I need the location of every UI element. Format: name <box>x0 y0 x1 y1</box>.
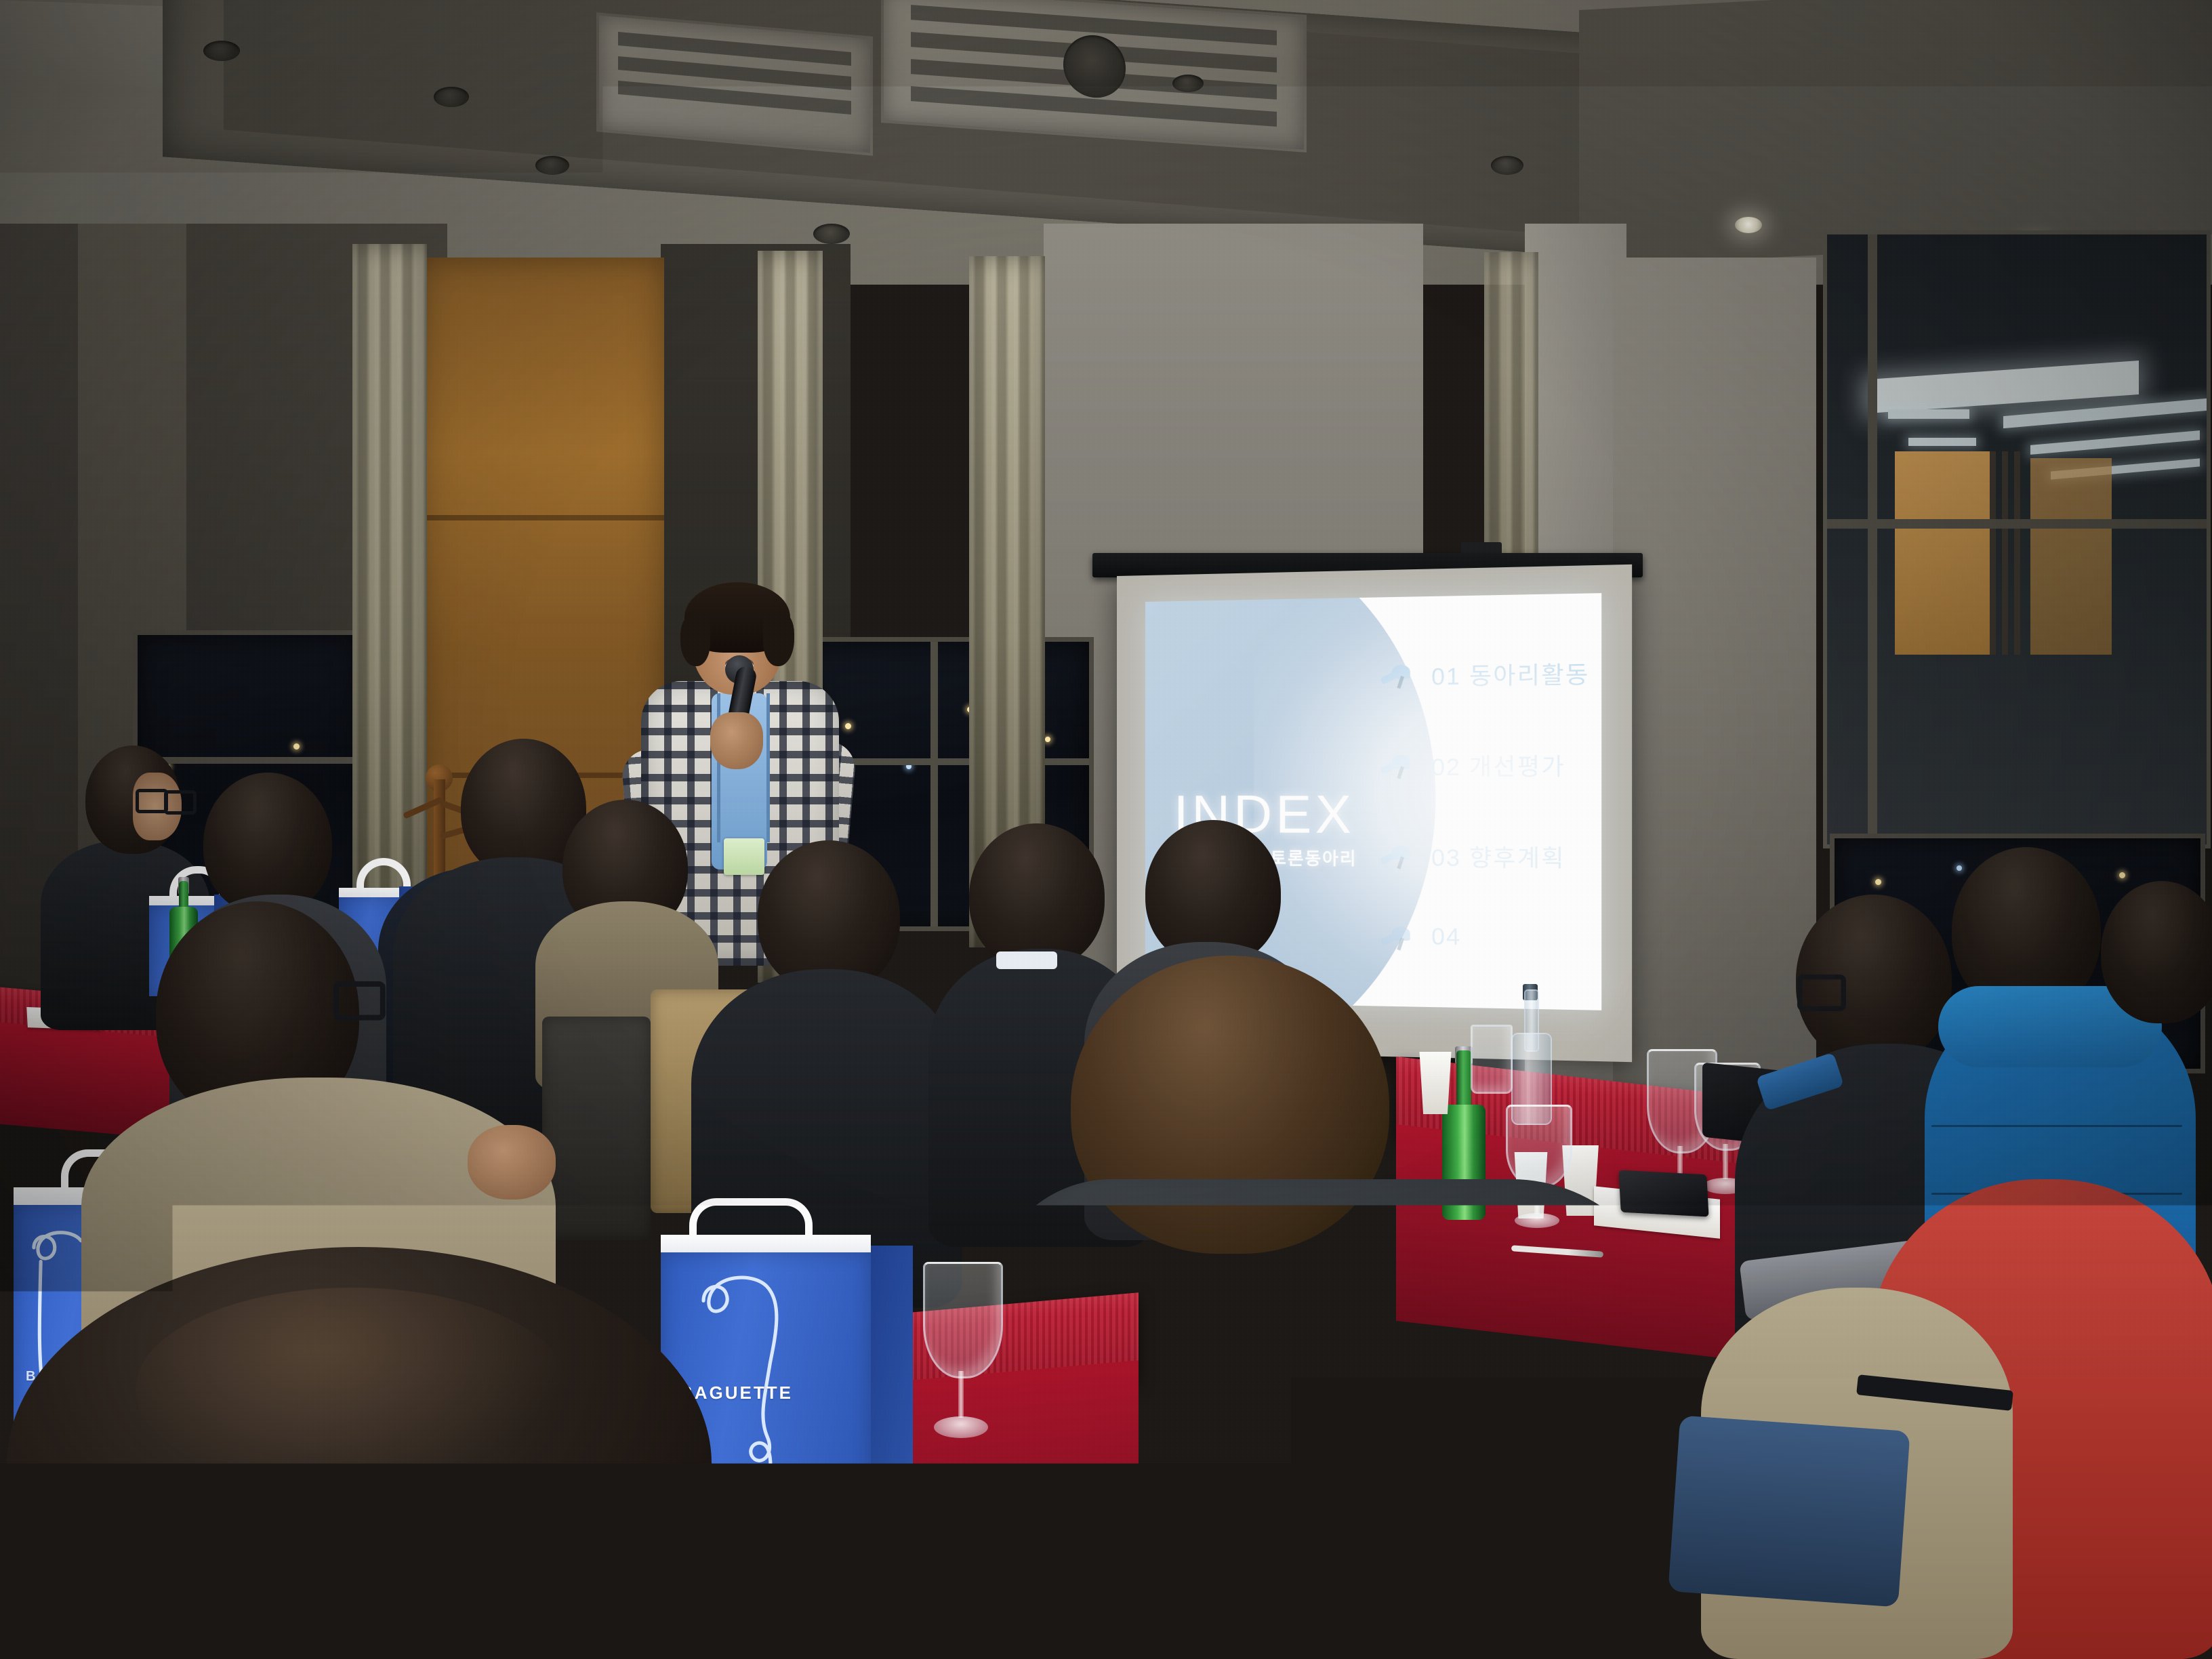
bag-orange-tag <box>838 1471 857 1492</box>
presenter-hand <box>710 712 763 769</box>
bag-swirl-decoration <box>691 1259 833 1551</box>
drinking-glass <box>1471 1025 1513 1094</box>
ceiling-downlight-icon <box>203 41 240 61</box>
slide-index-item: 03 향후계획 <box>1379 838 1565 874</box>
photo-scene: INDEX 99분 토론동아리 01 동아리활동 02 개선평가 <box>0 0 2212 1659</box>
wall-grey-right <box>1613 258 1816 1125</box>
audience-collar <box>996 951 1057 969</box>
slide-item-text: 03 향후계획 <box>1431 838 1565 874</box>
mountain-icon <box>1379 924 1416 948</box>
slide-item-text: 01 동아리활동 <box>1431 655 1589 691</box>
slide-index-item: 02 개선평가 <box>1379 747 1565 782</box>
puffer-seam <box>1931 1125 2182 1127</box>
ceiling-downlight-icon <box>434 87 469 107</box>
slide-item-text: 02 개선평가 <box>1431 747 1565 782</box>
mobile-phone <box>1618 1170 1708 1216</box>
jeans <box>1668 1415 1910 1607</box>
shopping-bag-side <box>871 1246 913 1593</box>
ceiling-downlight-icon <box>535 156 569 175</box>
ceiling-beam-right <box>1579 0 2212 268</box>
audience-head <box>2101 881 2212 1023</box>
ceiling-downlight-icon <box>1172 75 1204 92</box>
wood-panel-seam <box>420 515 664 520</box>
slide-index-item: 04 <box>1379 923 1461 951</box>
ceiling-downlight-icon <box>813 224 850 244</box>
slide-item-text: 04 <box>1431 924 1461 951</box>
mountain-icon <box>1379 844 1416 867</box>
presenter-hair-side <box>763 612 794 666</box>
presenter-name-badge <box>724 838 764 875</box>
presenter-hair-side <box>680 615 710 666</box>
mountain-icon <box>1379 754 1416 777</box>
audience-head <box>203 773 332 915</box>
ac-center-light-icon <box>1063 33 1126 100</box>
ceiling-downlight-lit-icon <box>1735 217 1762 233</box>
slide-index-item: 01 동아리활동 <box>1379 655 1590 692</box>
wine-glass-foreground <box>923 1262 999 1443</box>
ceiling-downlight-icon <box>1491 156 1523 175</box>
mountain-icon <box>1379 663 1416 687</box>
audience-hand <box>468 1125 556 1200</box>
audience-head <box>969 823 1105 969</box>
window-right-far-room <box>1823 230 2211 848</box>
foreground-body-puffer <box>989 1179 1674 1659</box>
chair <box>542 1017 651 1240</box>
shopping-bag-brand: BAGUETTE <box>680 1382 793 1404</box>
foreground-head-shine <box>136 1288 569 1491</box>
air-conditioner-vent-secondary <box>596 12 873 156</box>
